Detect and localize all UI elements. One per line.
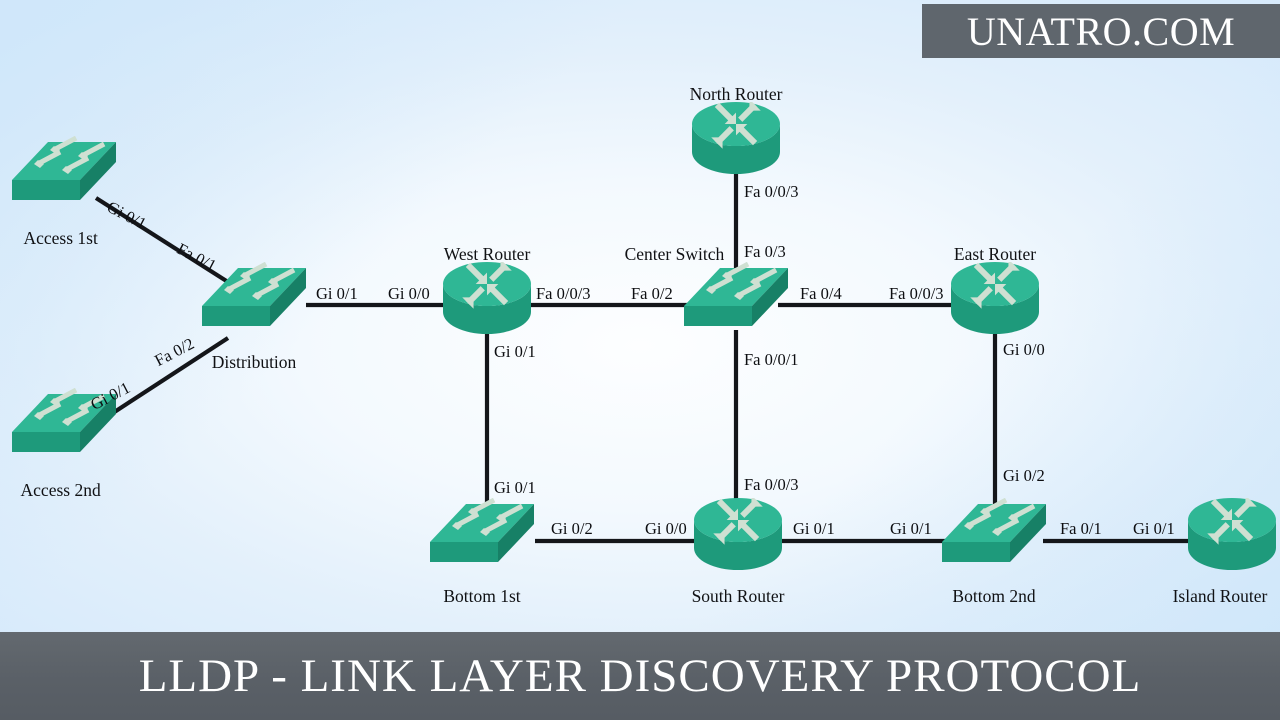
port-label-east-fa0003: Fa 0/0/3: [889, 284, 944, 304]
port-label-bottom1-gi01: Gi 0/1: [494, 478, 536, 498]
port-label-center-fa0001: Fa 0/0/1: [744, 350, 799, 370]
node-label: Access 1st: [23, 228, 97, 249]
port-label-west-gi00: Gi 0/0: [388, 284, 430, 304]
node-label: North Router: [690, 84, 783, 105]
router-icon: [686, 102, 786, 182]
node-label: South Router: [692, 586, 785, 607]
port-label-south-gi00: Gi 0/0: [645, 519, 687, 539]
node-east-router[interactable]: East Router: [945, 262, 1045, 342]
switch-icon: [426, 498, 538, 582]
node-label: East Router: [954, 244, 1036, 265]
port-label-west-gi01: Gi 0/1: [494, 342, 536, 362]
node-label: Center Switch: [625, 244, 725, 265]
node-south-router[interactable]: South Router: [688, 498, 788, 578]
switch-icon: [680, 262, 792, 346]
router-icon: [945, 262, 1045, 342]
port-label-east-gi00: Gi 0/0: [1003, 340, 1045, 360]
node-label: West Router: [444, 244, 531, 265]
port-label-north-fa0003: Fa 0/0/3: [744, 182, 799, 202]
node-bottom1[interactable]: Bottom 1st: [426, 498, 538, 582]
router-icon: [437, 262, 537, 342]
node-label: Bottom 2nd: [952, 586, 1035, 607]
port-label-bottom2-gi02: Gi 0/2: [1003, 466, 1045, 486]
node-distribution[interactable]: Distribution: [198, 262, 310, 346]
port-label-bottom2-gi01: Gi 0/1: [890, 519, 932, 539]
node-access1[interactable]: Access 1st: [8, 136, 120, 220]
node-label: Bottom 1st: [443, 586, 520, 607]
node-center-switch[interactable]: Center Switch: [680, 262, 792, 346]
node-north-router[interactable]: North Router: [686, 102, 786, 182]
watermark: UNATRO.COM: [922, 4, 1280, 58]
port-label-south-fa0003: Fa 0/0/3: [744, 475, 799, 495]
node-bottom2[interactable]: Bottom 2nd: [938, 498, 1050, 582]
router-icon: [1182, 498, 1280, 578]
switch-icon: [198, 262, 310, 346]
port-label-distribution-gi01: Gi 0/1: [316, 284, 358, 304]
switch-icon: [8, 136, 120, 220]
port-label-south-gi01: Gi 0/1: [793, 519, 835, 539]
port-label-bottom2-fa01: Fa 0/1: [1060, 519, 1102, 539]
port-label-bottom1-gi02: Gi 0/2: [551, 519, 593, 539]
node-label: Distribution: [212, 352, 297, 373]
port-label-center-fa03: Fa 0/3: [744, 242, 786, 262]
link-layer: [0, 0, 1280, 720]
watermark-text: UNATRO.COM: [967, 8, 1235, 55]
port-label-center-fa04: Fa 0/4: [800, 284, 842, 304]
diagram-canvas: Access 1st Access 2nd: [0, 0, 1280, 720]
node-label: Island Router: [1173, 586, 1268, 607]
node-west-router[interactable]: West Router: [437, 262, 537, 342]
node-island-router[interactable]: Island Router: [1182, 498, 1280, 578]
banner-title: LLDP - LINK LAYER DISCOVERY PROTOCOL: [139, 649, 1142, 703]
router-icon: [688, 498, 788, 578]
port-label-west-fa0003: Fa 0/0/3: [536, 284, 591, 304]
title-banner: LLDP - LINK LAYER DISCOVERY PROTOCOL: [0, 632, 1280, 720]
port-label-center-fa02: Fa 0/2: [631, 284, 673, 304]
switch-icon: [938, 498, 1050, 582]
port-label-island-gi01: Gi 0/1: [1133, 519, 1175, 539]
node-label: Access 2nd: [21, 480, 101, 501]
